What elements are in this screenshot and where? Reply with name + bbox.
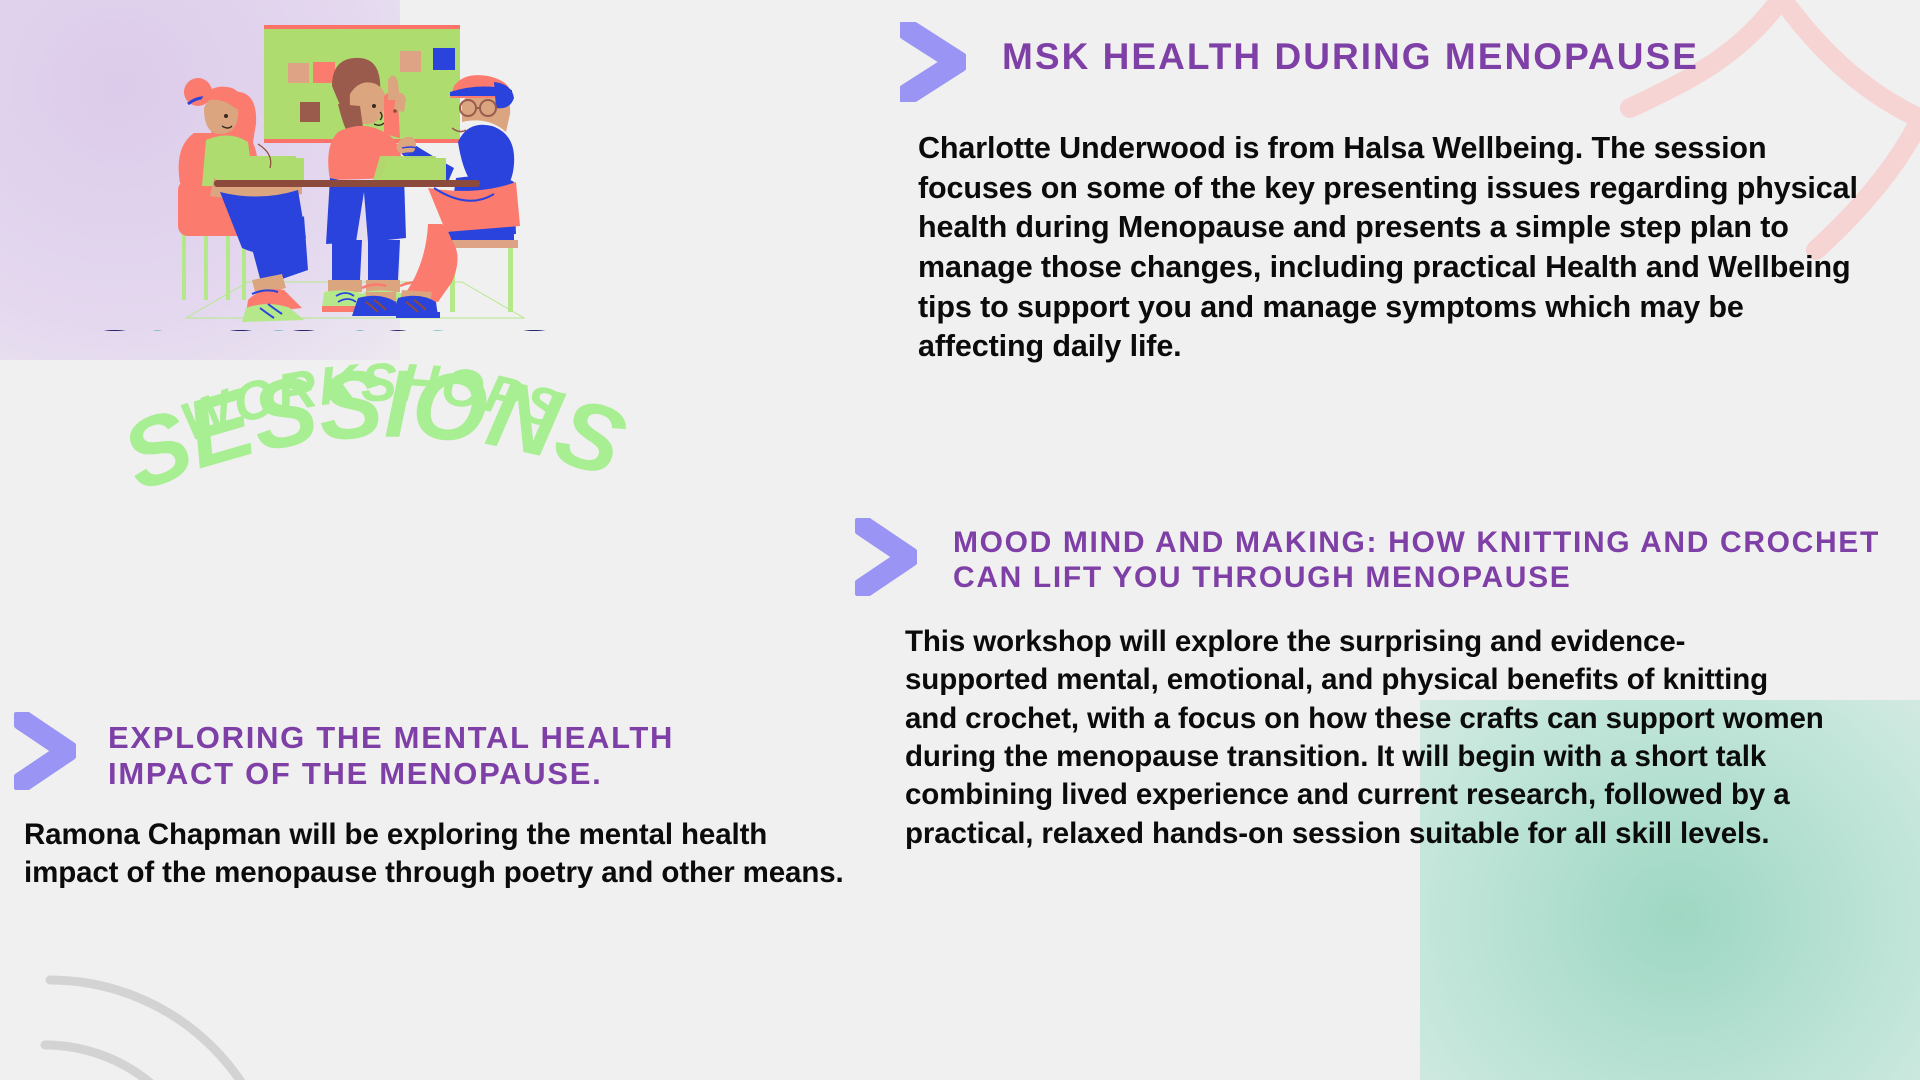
chevron-right-icon: [855, 518, 917, 596]
section-msk-health: MSK HEALTH DURING MENOPAUSE Charlotte Un…: [900, 18, 1890, 367]
section-msk-title: MSK HEALTH DURING MENOPAUSE: [1002, 36, 1699, 79]
chevron-right-icon: [900, 22, 966, 102]
section-mood-body: This workshop will explore the surprisin…: [905, 623, 1825, 853]
section-mood-heading-row: MOOD MIND AND MAKING: HOW KNITTING AND C…: [855, 512, 1895, 596]
logo-line2: SESSIONS: [86, 330, 570, 351]
workshop-meeting-illustration: [152, 8, 552, 338]
section-exploring-mental-health: EXPLORING THE MENTAL HEALTH IMPACT OF TH…: [14, 710, 884, 893]
left-column: WORKSHOPS SESSIONS WORKSHOPS SESSIONS: [0, 0, 900, 1080]
chevron-right-icon: [14, 712, 76, 790]
section-exploring-heading-row: EXPLORING THE MENTAL HEALTH IMPACT OF TH…: [14, 710, 884, 792]
section-exploring-body: Ramona Chapman will be exploring the men…: [24, 816, 864, 893]
logo-line2-shadow: SESSIONS: [108, 350, 638, 512]
section-msk-heading-row: MSK HEALTH DURING MENOPAUSE: [900, 18, 1890, 102]
workshops-sessions-logo: WORKSHOPS SESSIONS WORKSHOPS SESSIONS: [86, 330, 646, 530]
section-msk-body: Charlotte Underwood is from Halsa Wellbe…: [918, 129, 1868, 367]
section-mood-mind-making: MOOD MIND AND MAKING: HOW KNITTING AND C…: [855, 512, 1895, 853]
section-mood-title: MOOD MIND AND MAKING: HOW KNITTING AND C…: [953, 526, 1893, 596]
section-exploring-title: EXPLORING THE MENTAL HEALTH IMPACT OF TH…: [108, 720, 748, 792]
